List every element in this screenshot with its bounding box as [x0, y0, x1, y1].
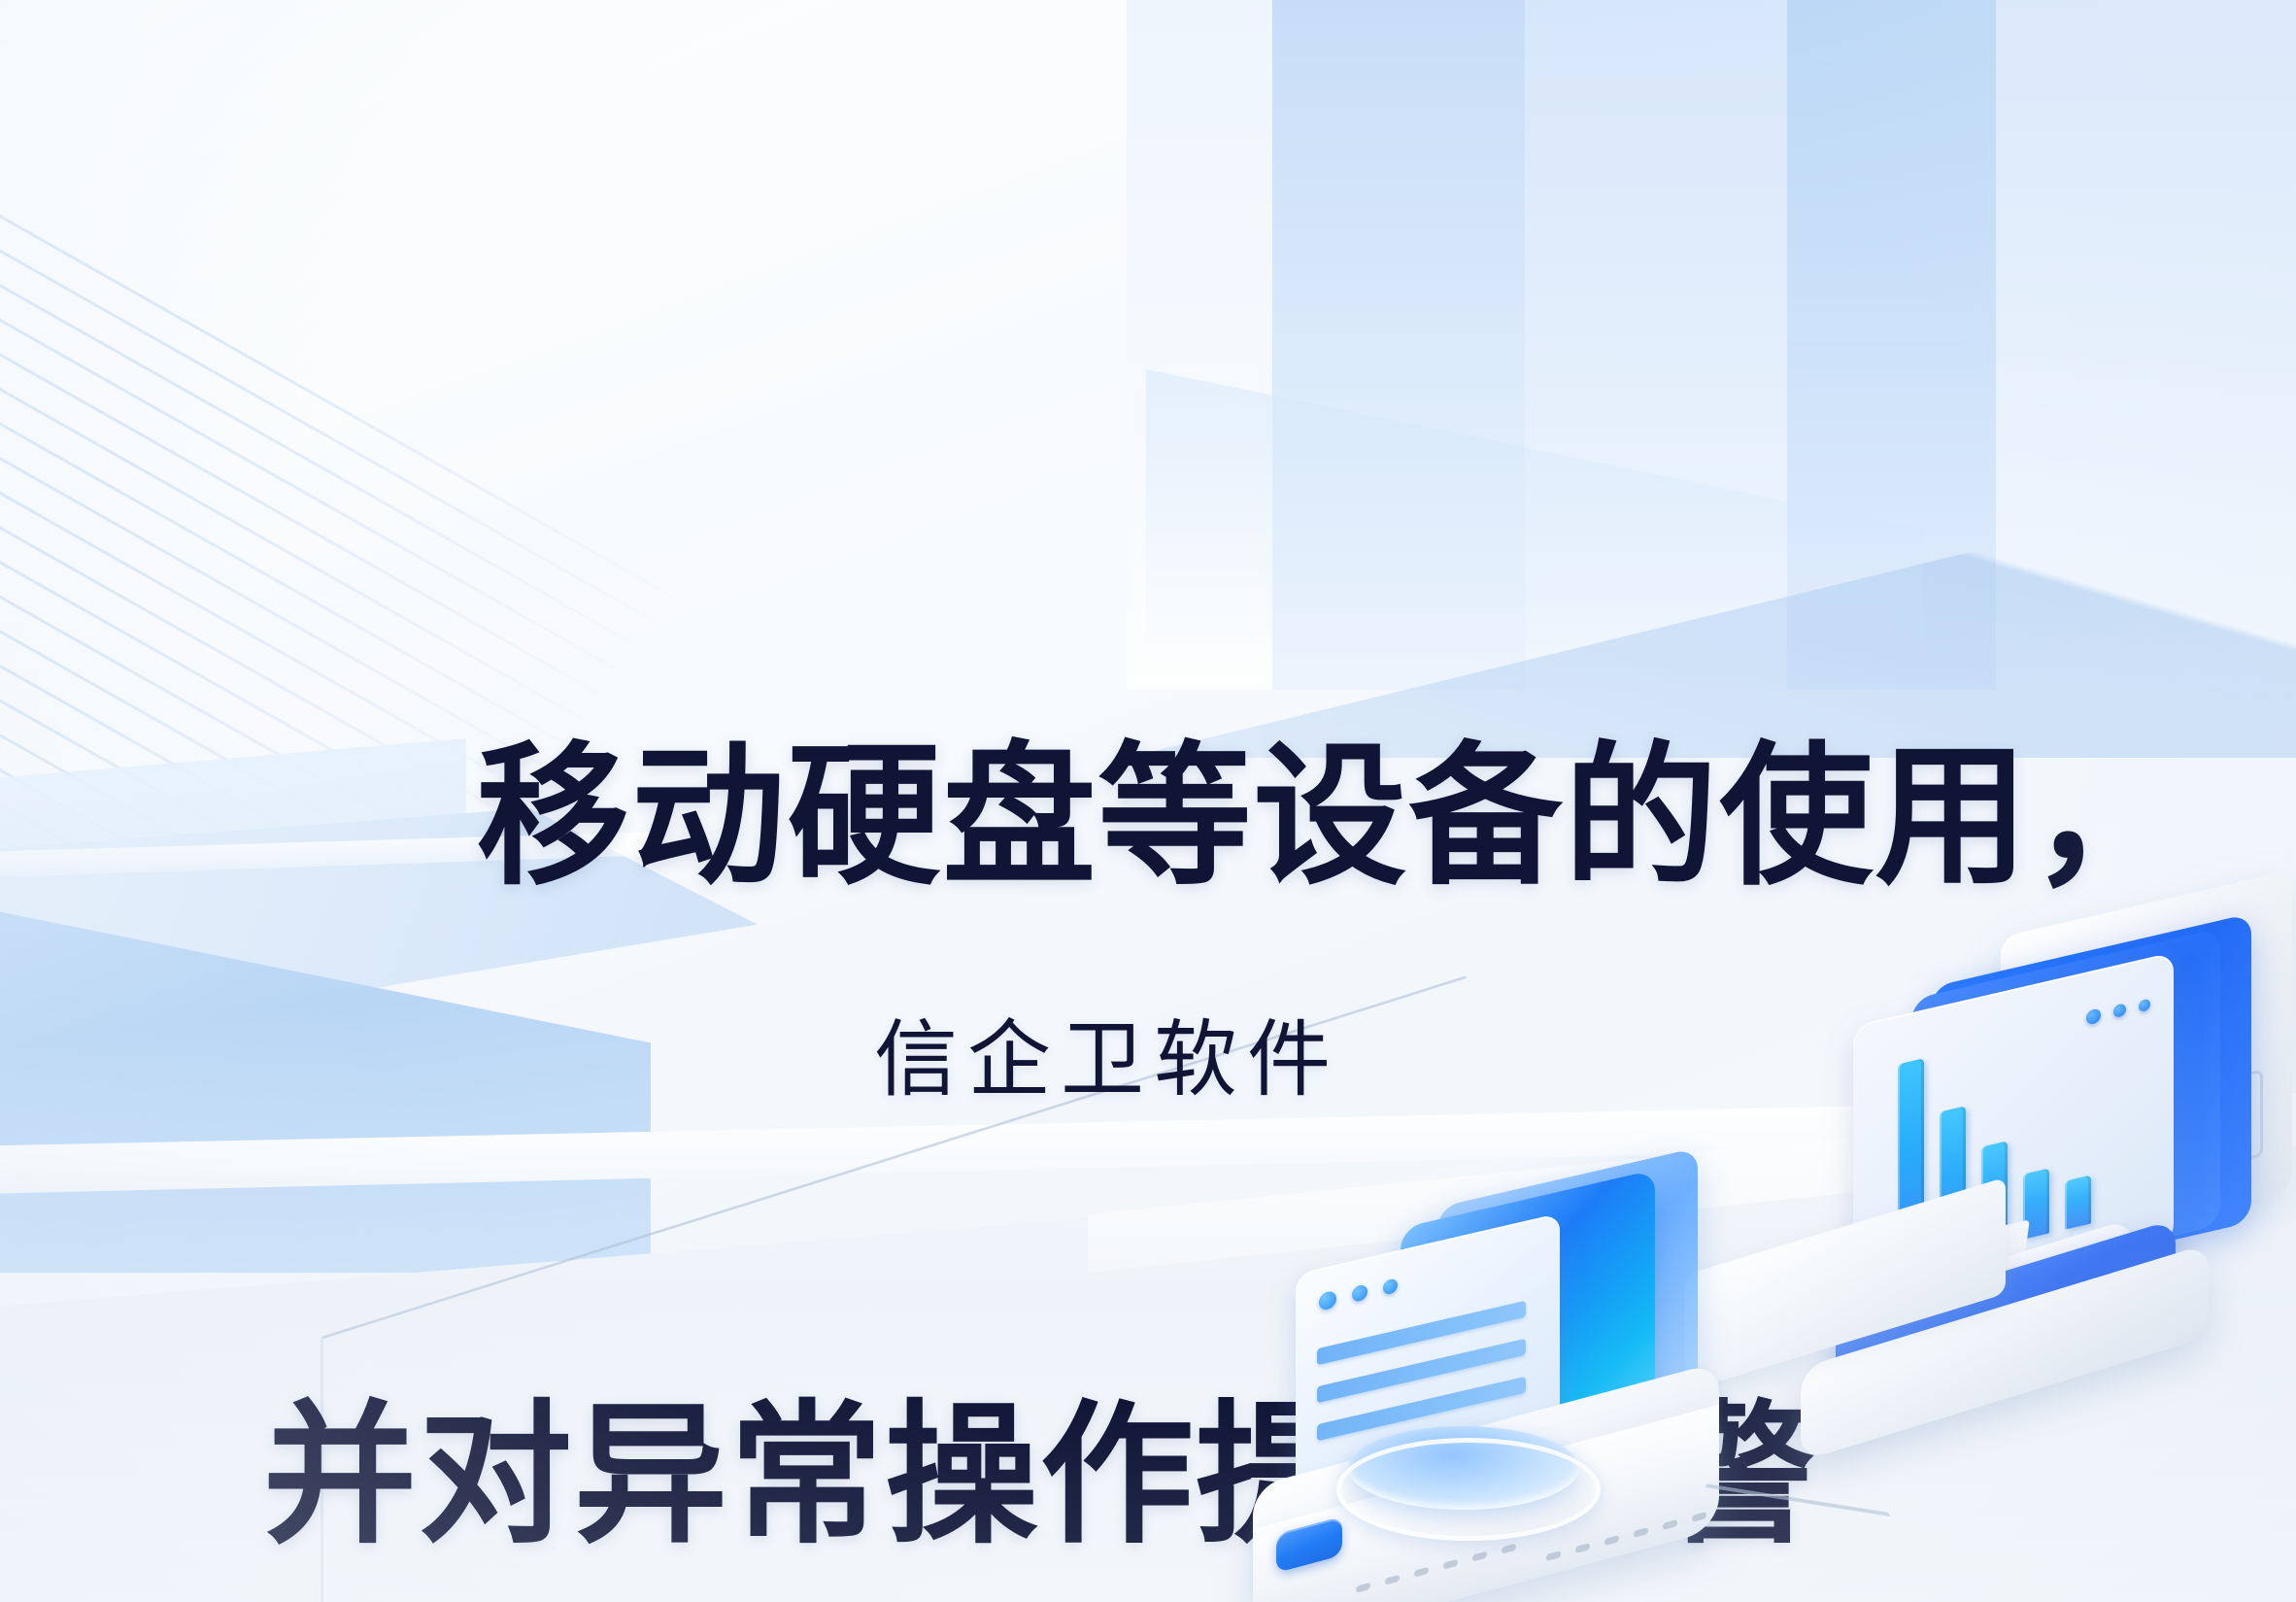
card-dots — [1319, 1276, 1398, 1312]
vents-right-2 — [1575, 1543, 1590, 1553]
card-dot-2 — [1352, 1283, 1367, 1303]
device-cord — [1705, 1498, 1890, 1556]
vents-right-1 — [1546, 1551, 1561, 1561]
vents-left-2 — [1385, 1574, 1400, 1585]
vents-left-1 — [1356, 1582, 1370, 1592]
page-subtitle: 信企卫软件 — [874, 991, 1340, 1112]
vents-left-6 — [1502, 1543, 1516, 1553]
title-line-1: 移动硬盘等设备的使用， — [476, 732, 2185, 903]
card-dot-1 — [1319, 1290, 1336, 1312]
card-dot-3 — [1383, 1278, 1398, 1295]
vents-left-3 — [1414, 1566, 1429, 1577]
glass-card-device-illustration — [1263, 1183, 1884, 1601]
vents-right-4 — [1634, 1526, 1648, 1537]
slide-canvas: 移动硬盘等设备的使用， 并对异常操作提供告警 信企卫软件 — [0, 0, 2296, 1602]
window-dot-3 — [2139, 998, 2150, 1012]
vents-right-5 — [1663, 1518, 1677, 1529]
bar-5 — [2065, 1175, 2091, 1230]
vents-left-4 — [1443, 1558, 1458, 1569]
vents-right-3 — [1604, 1535, 1619, 1546]
vents-right-6 — [1692, 1511, 1706, 1521]
vents-left-5 — [1472, 1551, 1487, 1561]
device-puck-ring — [1336, 1438, 1601, 1541]
